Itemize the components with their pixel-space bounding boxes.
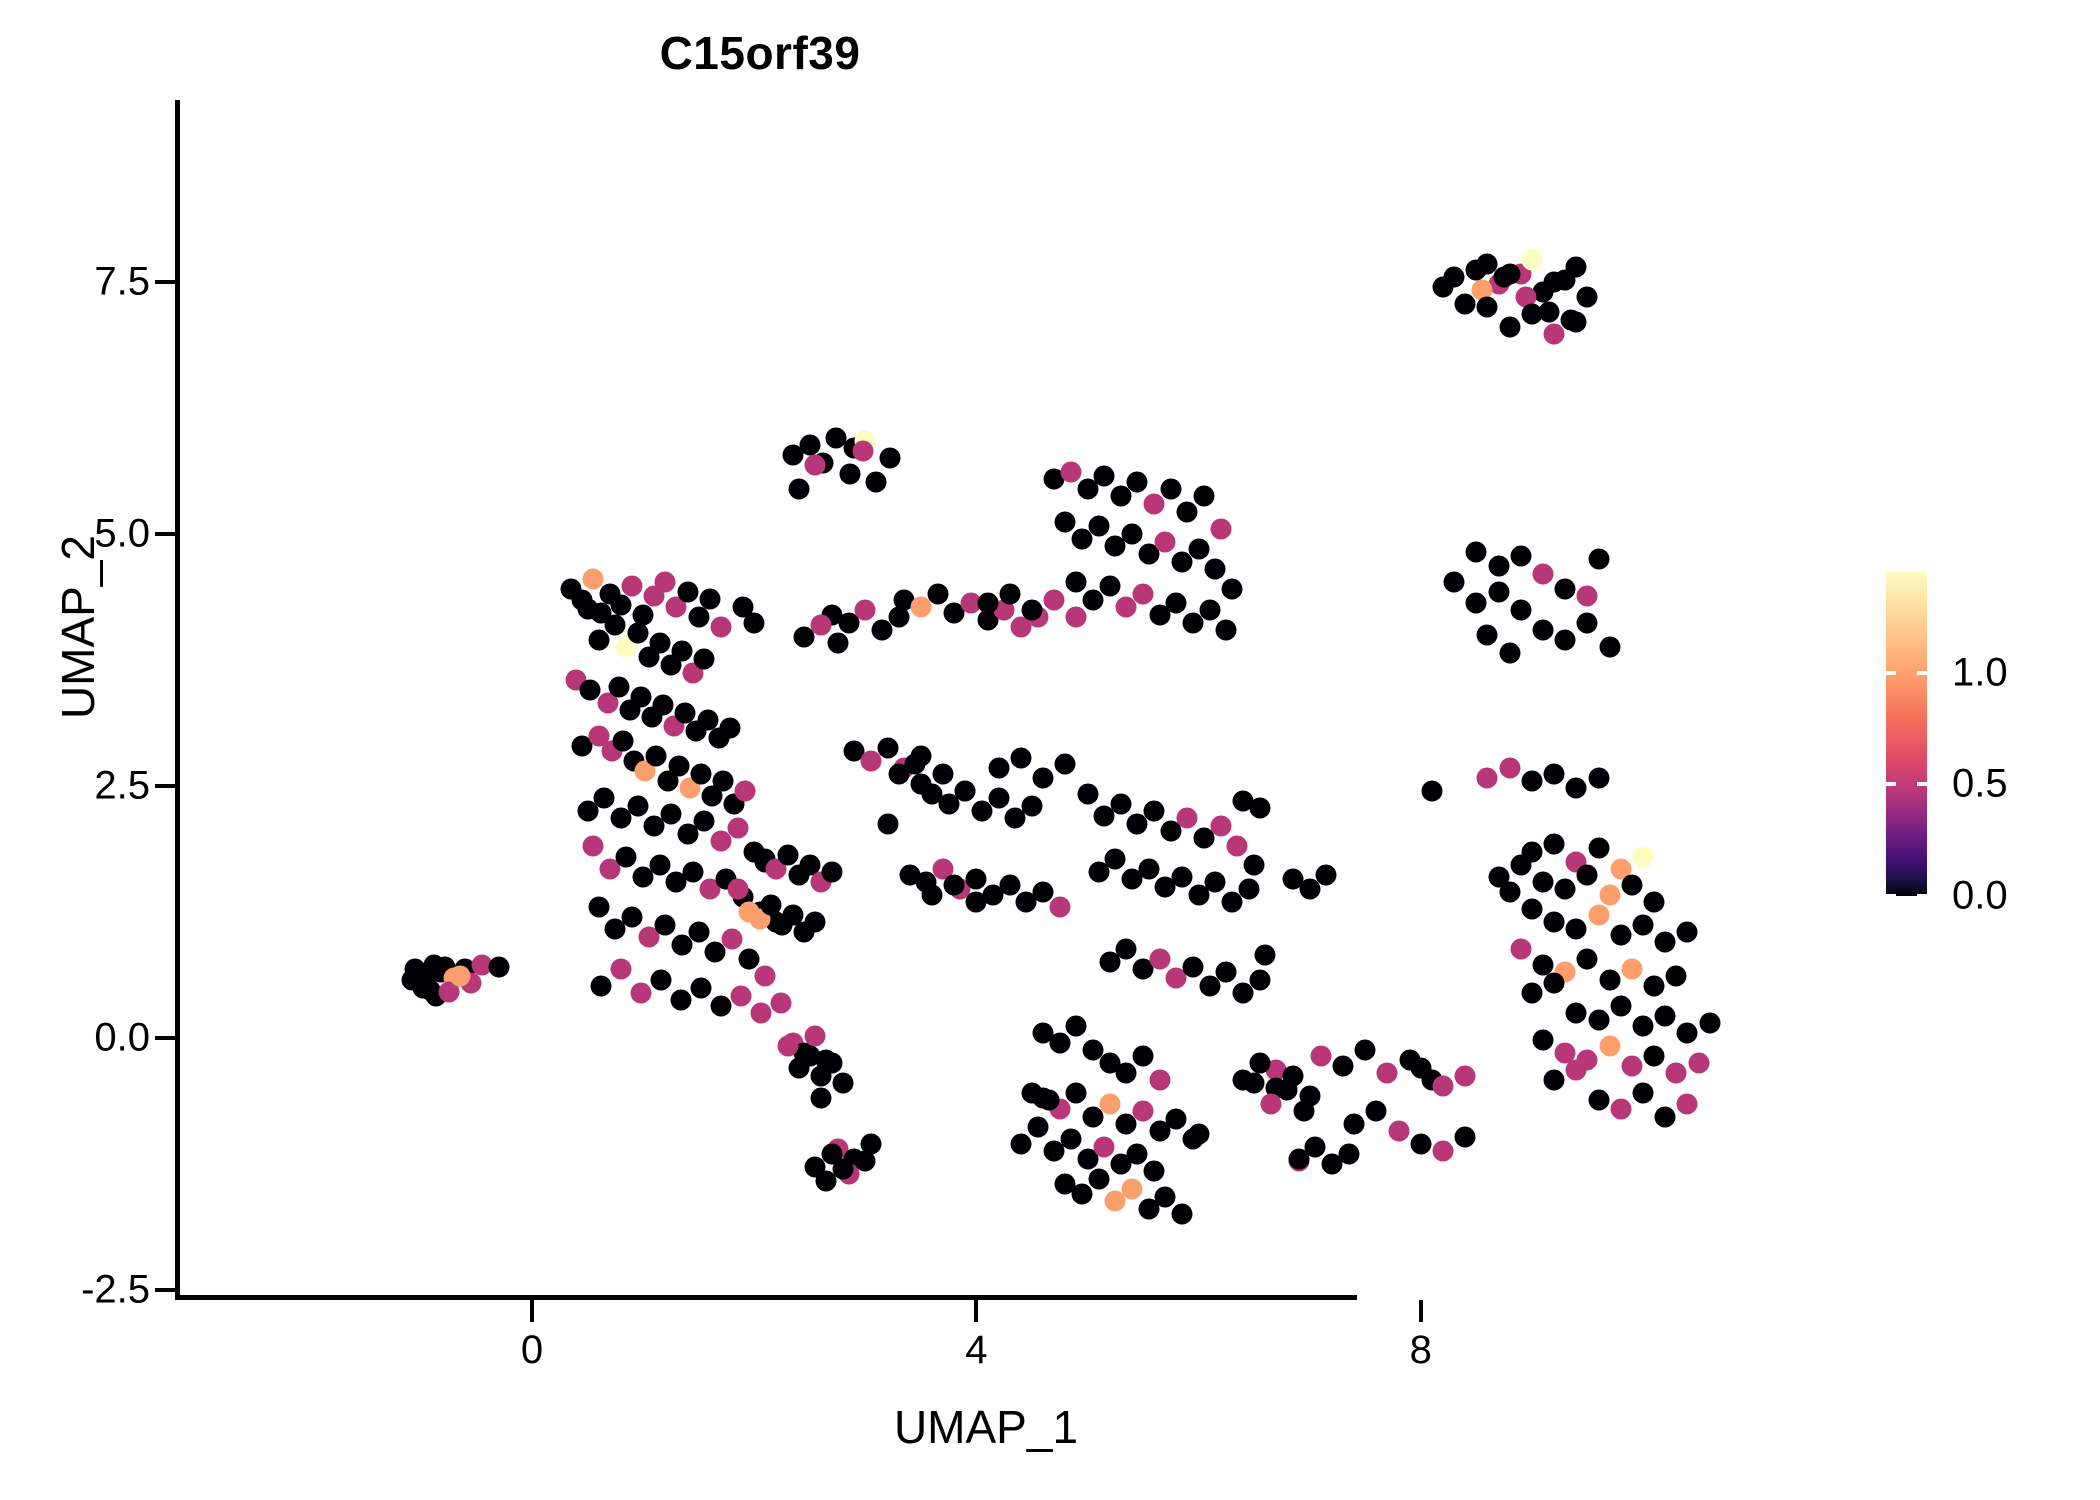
scatter-point [810,1088,831,1109]
scatter-point [1644,1046,1665,1067]
scatter-point [1060,1128,1081,1149]
scatter-point [1038,1090,1059,1111]
scatter-point [1621,1056,1642,1077]
scatter-point [1121,1179,1142,1200]
scatter-point [1566,256,1587,277]
x-tick-mark [1419,1300,1423,1322]
x-tick-label: 0 [472,1328,592,1373]
scatter-point [1066,1015,1087,1036]
colorbar-tick-mark [1917,782,1927,786]
scatter-point [1544,1070,1565,1091]
x-axis-label: UMAP_1 [486,1400,1486,1454]
scatter-point [650,969,671,990]
scatter-point [1099,1093,1120,1114]
scatter-point [727,878,748,899]
scatter-point [1510,854,1531,875]
scatter-point [1621,874,1642,895]
scatter-point [1210,816,1231,837]
scatter-point [1127,1143,1148,1164]
scatter-point [583,836,604,857]
scatter-point [1677,1093,1698,1114]
scatter-point [1521,770,1542,791]
scatter-point [799,1046,820,1067]
scatter-point [694,648,715,669]
scatter-point [1577,949,1598,970]
y-tick-mark [155,1288,177,1292]
scatter-point [1588,905,1609,926]
colorbar-gradient [1886,572,1927,896]
colorbar-tick-mark [1886,894,1896,898]
scatter-point [1216,619,1237,640]
scatter-point [760,894,781,915]
scatter-point [413,977,434,998]
scatter-point [1171,1204,1192,1225]
scatter-point [1066,606,1087,627]
scatter-point [735,781,756,802]
scatter-point [1510,599,1531,620]
scatter-point [1044,589,1065,610]
scatter-point [1477,624,1498,645]
scatter-point [1077,784,1098,805]
scatter-point [1249,798,1270,819]
scatter-point [853,441,874,462]
scatter-point [1521,982,1542,1003]
scatter-point [1577,586,1598,607]
scatter-point [1094,465,1115,486]
scatter-point [1588,838,1609,859]
scatter-point [653,695,674,716]
scatter-point [1316,864,1337,885]
page-title: C15orf39 [0,26,1520,80]
scatter-point [1544,912,1565,933]
scatter-point [1144,801,1165,822]
scatter-point [627,796,648,817]
scatter-point [1477,767,1498,788]
scatter-point [1588,1090,1609,1111]
scatter-point [1633,915,1654,936]
scatter-point [1066,1083,1087,1104]
colorbar-tick-mark [1917,671,1927,675]
scatter-point [621,907,642,928]
scatter-point [671,640,692,661]
scatter-point [1455,1066,1476,1087]
scatter-point [1499,317,1520,338]
scatter-point [1588,1009,1609,1030]
scatter-point [1166,592,1187,613]
scatter-point [730,985,751,1006]
scatter-point [613,730,634,751]
scatter-point [1521,249,1542,270]
scatter-point [1433,1076,1454,1097]
scatter-point [966,891,987,912]
scatter-point [1477,297,1498,318]
scatter-point [1294,1100,1315,1121]
scatter-point [683,861,704,882]
scatter-point [839,463,860,484]
scatter-point [1121,524,1142,545]
scatter-point [1144,1161,1165,1182]
scatter-point [621,576,642,597]
scatter-point [1010,1133,1031,1154]
scatter-point [1410,1133,1431,1154]
scatter-point [1455,1126,1476,1147]
scatter-point [1599,969,1620,990]
scatter-point [1577,612,1598,633]
scatter-point [1355,1040,1376,1061]
scatter-point [1155,1187,1176,1208]
scatter-point [1555,579,1576,600]
scatter-point [826,428,847,449]
scatter-point [1188,539,1209,560]
scatter-point [799,435,820,456]
scatter-point [1133,584,1154,605]
scatter-point [1521,304,1542,325]
scatter-point [1110,794,1131,815]
scatter-point [1455,294,1476,315]
scatter-point [933,763,954,784]
scatter-point [988,788,1009,809]
scatter-point [1466,542,1487,563]
scatter-point [710,995,731,1016]
y-tick-mark [155,1036,177,1040]
scatter-point [744,612,765,633]
scatter-point [1633,1015,1654,1036]
scatter-point [1127,471,1148,492]
scatter-point [1105,848,1126,869]
scatter-point [583,569,604,590]
scatter-point [1566,919,1587,940]
scatter-point [1088,1169,1109,1190]
y-axis-label: UMAP_2 [51,367,105,887]
scatter-point [1277,1080,1298,1101]
scatter-point [649,632,670,653]
scatter-point [577,598,598,619]
scatter-point [927,584,948,605]
scatter-point [710,616,731,637]
x-tick-label: 8 [1361,1328,1481,1373]
scatter-point [1621,959,1642,980]
scatter-point [1033,767,1054,788]
scatter-point [1021,599,1042,620]
scatter-point [649,854,670,875]
scatter-point [1310,1046,1331,1067]
scatter-point [1533,1030,1554,1051]
scatter-point [1388,1120,1409,1141]
scatter-point [1177,501,1198,522]
scatter-point [610,959,631,980]
scatter-point [977,592,998,613]
scatter-point [921,884,942,905]
scatter-point [1021,796,1042,817]
scatter-point [855,599,876,620]
scatter-point [1644,975,1665,996]
scatter-point [910,773,931,794]
scatter-point [655,572,676,593]
scatter-point [1249,969,1270,990]
scatter-point [1099,576,1120,597]
scatter-point [1205,871,1226,892]
scatter-point [877,737,898,758]
scatter-point [1133,1100,1154,1121]
scatter-point [805,912,826,933]
scatter-point [777,1036,798,1057]
scatter-point [777,844,798,865]
scatter-point [594,788,615,809]
scatter-point [1433,1140,1454,1161]
scatter-point [1699,1012,1720,1033]
scatter-point [1544,834,1565,855]
scatter-point [1344,1113,1365,1134]
scatter-point [1666,1063,1687,1084]
scatter-point [616,846,637,867]
scatter-point [1171,866,1192,887]
scatter-point [1149,1070,1170,1091]
scatter-point [1544,763,1565,784]
scatter-point [877,814,898,835]
scatter-point [1494,266,1515,287]
scatter-point [755,965,776,986]
scatter-point [590,975,611,996]
scatter-point [1655,1106,1676,1127]
scatter-point [630,982,651,1003]
scatter-point [1666,965,1687,986]
scatter-point [610,594,631,615]
scatter-point [1144,493,1165,514]
scatter-point [1138,858,1159,879]
scatter-point [1166,1108,1187,1129]
scatter-point [999,584,1020,605]
scatter-point [646,745,667,766]
scatter-point [905,753,926,774]
scatter-point [1566,312,1587,333]
scatter-point [1633,846,1654,867]
scatter-point [1333,1056,1354,1077]
scatter-point [1655,1005,1676,1026]
scatter-point [805,455,826,476]
scatter-point [1183,957,1204,978]
scatter-point [449,965,470,986]
scatter-point [1055,753,1076,774]
scatter-point [1555,878,1576,899]
scatter-point [738,949,759,970]
scatter-point [955,781,976,802]
scatter-point [608,677,629,698]
scatter-point [944,874,965,895]
scatter-point [588,896,609,917]
scatter-point [1599,884,1620,905]
scatter-point [1677,1022,1698,1043]
scatter-point [694,811,715,832]
x-tick-label: 4 [916,1328,1036,1373]
scatter-point [1216,962,1237,983]
scatter-point [1488,556,1509,577]
scatter-point [627,622,648,643]
scatter-point [1199,599,1220,620]
scatter-point [1149,949,1170,970]
y-tick-mark [155,784,177,788]
scatter-point [1338,1143,1359,1164]
x-tick-mark [530,1300,534,1322]
scatter-point [1688,1053,1709,1074]
scatter-point [988,757,1009,778]
scatter-point [1433,277,1454,298]
scatter-point [677,582,698,603]
scatter-point [1644,891,1665,912]
colorbar-tick-label: 1.0 [1952,650,2008,695]
scatter-point [1055,511,1076,532]
scatter-point [1533,564,1554,585]
scatter-point [1210,518,1231,539]
x-tick-mark [974,1300,978,1322]
scatter-point [1177,808,1198,829]
scatter-point [1299,878,1320,899]
scatter-point [1133,1046,1154,1067]
scatter-point [660,804,681,825]
scatter-point [1510,546,1531,567]
scatter-point [1049,1033,1070,1054]
scatter-point [788,478,809,499]
scatter-point [1221,579,1242,600]
scatter-point [805,1025,826,1046]
scatter-point [1444,572,1465,593]
scatter-point [1010,747,1031,768]
scatter-point [1094,1136,1115,1157]
colorbar-tick-mark [1917,894,1927,898]
scatter-point [1499,642,1520,663]
scatter-point [833,1159,854,1180]
scatter-point [1238,878,1259,899]
scatter-point [1410,1058,1431,1079]
colorbar-tick-mark [1886,671,1896,675]
scatter-point [1510,939,1531,960]
scatter-point [1499,757,1520,778]
scatter-point [879,448,900,469]
scatter-point [1544,972,1565,993]
scatter-point [1305,1136,1326,1157]
colorbar-tick-label: 0.0 [1952,874,2008,919]
colorbar-tick-label: 0.5 [1952,762,2008,807]
scatter-point [1499,881,1520,902]
scatter-point [1049,896,1070,917]
y-tick-label: 0.0 [0,1016,150,1061]
scatter-point [1599,636,1620,657]
scatter-point [1599,1036,1620,1057]
scatter-point [1521,898,1542,919]
scatter-point [488,957,509,978]
y-tick-mark [155,280,177,284]
scatter-point [1544,324,1565,345]
scatter-point [630,687,651,708]
scatter-point [655,915,676,936]
scatter-point [1194,485,1215,506]
scatter-point [713,770,734,791]
scatter-point [670,989,691,1010]
scatter-point [1110,485,1131,506]
scatter-point [1533,871,1554,892]
scatter-point [690,763,711,784]
scatter-point [1610,995,1631,1016]
y-tick-mark [155,532,177,536]
scatter-point [1655,932,1676,953]
scatter-point [1533,619,1554,640]
scatter-point [1421,781,1442,802]
scatter-point [1588,549,1609,570]
scatter-point [1677,922,1698,943]
scatter-point [1160,478,1181,499]
scatter-point [1227,836,1248,857]
scatter-point [605,614,626,635]
scatter-point [750,1002,771,1023]
scatter-point [1577,287,1598,308]
scatter-point [1588,767,1609,788]
scatter-point [1555,629,1576,650]
scatter-point [1377,1063,1398,1084]
scatter-point [821,1053,842,1074]
scatter-point [1155,532,1176,553]
scatter-point [1366,1100,1387,1121]
scatter-point [1205,559,1226,580]
scatter-point [1255,945,1276,966]
scatter-point [1071,1184,1092,1205]
scatter-point [1566,778,1587,799]
scatter-point [727,818,748,839]
scatter-point [1566,1002,1587,1023]
scatter-point [966,868,987,889]
scatter-point [1488,582,1509,603]
colorbar-tick-mark [1886,782,1896,786]
scatter-point [821,861,842,882]
y-tick-label: -2.5 [0,1268,150,1313]
scatter-point [833,1073,854,1094]
scatter-point [866,471,887,492]
scatter-point [1116,939,1137,960]
scatter-point [1244,1073,1265,1094]
scatter-point [721,929,742,950]
scatter-point [1060,461,1081,482]
scatter-point [827,632,848,653]
scatter-point [1610,1098,1631,1119]
scatter-point [1088,515,1109,536]
scatter-point [719,717,740,738]
scatter-point [1066,572,1087,593]
scatter-point [688,922,709,943]
scatter-point [579,680,600,701]
scatter-point [999,874,1020,895]
scatter-point [690,977,711,998]
scatter-point [1633,1083,1654,1104]
scatter-point [1033,881,1054,902]
scatter-point [1544,272,1565,293]
scatter-point [770,992,791,1013]
scatter-point [1244,854,1265,875]
scatter-point [1610,925,1631,946]
y-tick-label: 7.5 [0,260,150,305]
scatter-point [588,629,609,650]
scatter-point [1566,1060,1587,1081]
scatter-points-layer [175,100,1720,1300]
scatter-point [1116,1063,1137,1084]
scatter-point [1027,1116,1048,1137]
scatter-point [688,606,709,627]
scatter-point [668,755,689,776]
feature-plot-figure: C15orf39 -2.50.02.55.07.5 048 UMAP_2 UMA… [0,0,2100,1500]
scatter-point [1577,864,1598,885]
scatter-point [1466,592,1487,613]
scatter-point [699,588,720,609]
scatter-point [1188,1123,1209,1144]
scatter-point [810,614,831,635]
scatter-point [855,1150,876,1171]
